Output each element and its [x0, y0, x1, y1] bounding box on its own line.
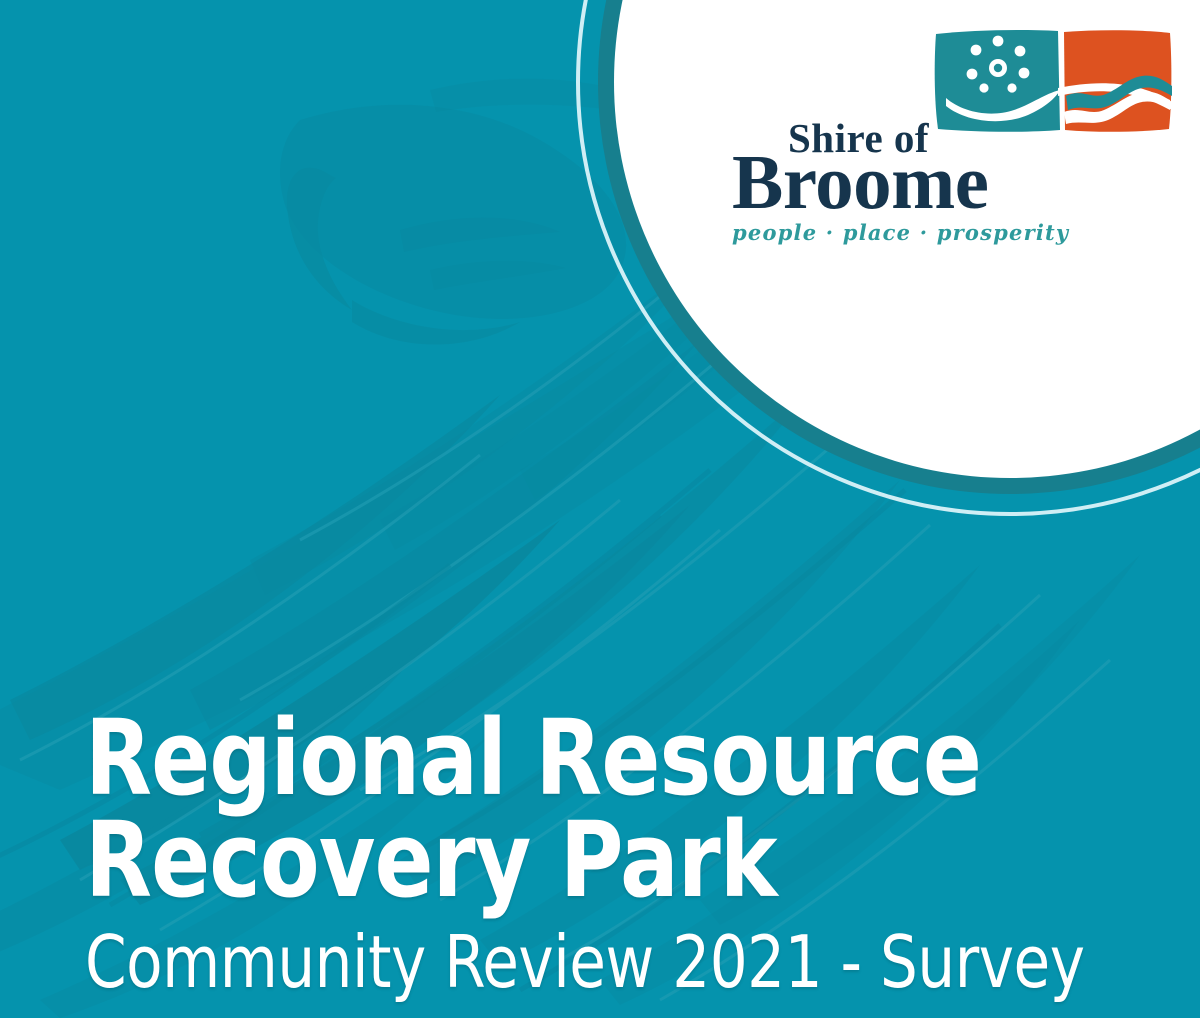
poster-cover: Shire of Broome people · place · prosper… — [0, 0, 1200, 1018]
headline-block: Regional Resource Recovery Park Communit… — [85, 708, 1175, 998]
page-title-line-1: Regional Resource — [85, 708, 1099, 810]
page-title: Regional Resource Recovery Park — [85, 708, 1099, 912]
logo-tagline: people · place · prosperity — [732, 222, 1069, 243]
logo-broome-text: Broome — [732, 144, 988, 221]
shire-of-broome-logo: Shire of Broome people · place · prosper… — [720, 26, 1180, 246]
page-title-line-2: Recovery Park — [85, 810, 1099, 912]
page-subtitle: Community Review 2021 - Survey — [85, 926, 1088, 998]
shire-of-broome-logo-mark-icon — [932, 26, 1174, 136]
